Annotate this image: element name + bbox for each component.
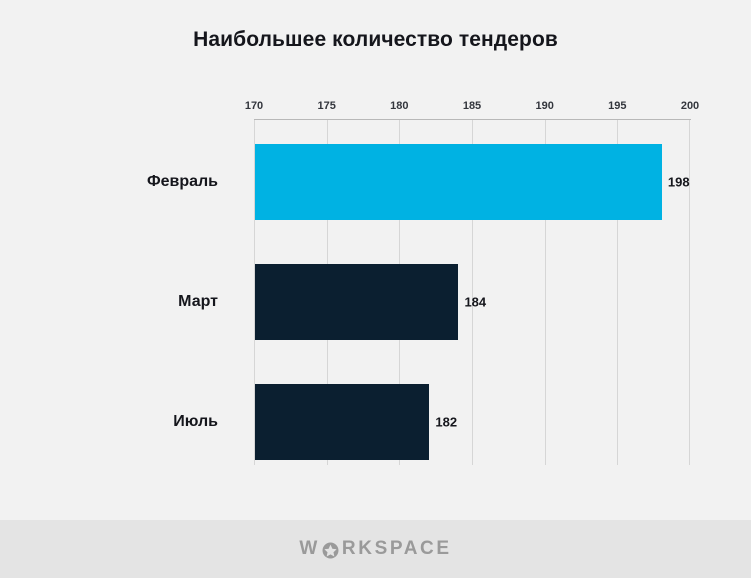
bar-value-july: 182 [435, 415, 457, 430]
workspace-watermark: W RKSPACE [0, 520, 751, 578]
x-axis-tick-labels: 170 175 180 185 190 195 200 [254, 100, 690, 116]
category-label-july: Июль [173, 413, 218, 431]
x-axis-tick-label: 170 [245, 100, 263, 112]
x-axis-tick-label: 200 [681, 100, 699, 112]
bar-february[interactable] [255, 144, 662, 220]
star-in-circle-icon [322, 542, 339, 559]
bar-value-march: 184 [464, 295, 486, 310]
watermark-text-left: W [299, 538, 320, 560]
x-axis-tick-label: 185 [463, 100, 481, 112]
bar-value-february: 198 [668, 175, 690, 190]
category-label-february: Февраль [147, 173, 218, 191]
bar-july[interactable] [255, 384, 429, 460]
watermark-text-right: RKSPACE [342, 538, 452, 560]
category-label-march: Март [178, 293, 218, 311]
y-axis-category-labels: Февраль Март Июль [0, 120, 240, 465]
chart-container: Наибольшее количество тендеров 170 175 1… [0, 0, 751, 578]
bars-layer: 198 184 182 [254, 120, 690, 465]
x-axis-tick-label: 190 [536, 100, 554, 112]
plot-area: 198 184 182 [254, 120, 690, 465]
x-axis-tick-label: 175 [318, 100, 336, 112]
x-axis-tick-label: 195 [608, 100, 626, 112]
x-axis-tick-label: 180 [390, 100, 408, 112]
bar-march[interactable] [255, 264, 458, 340]
footer-band: W RKSPACE [0, 520, 751, 578]
chart-title: Наибольшее количество тендеров [0, 28, 751, 52]
